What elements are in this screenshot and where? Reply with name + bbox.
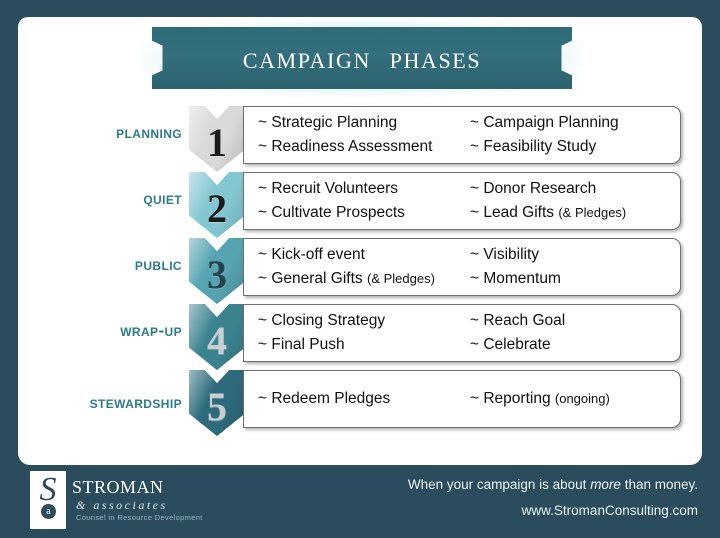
phase-item-line: ~ Strategic Planning~ Campaign Planning (258, 111, 680, 135)
stroman-logo: S a Stroman & associates Counsel in Reso… (30, 471, 205, 531)
phase-item-right: ~ Campaign Planning (470, 111, 619, 135)
phase-label-stewardship: Stewardship (0, 394, 182, 411)
title-banner: Campaign Phases (152, 27, 572, 89)
phase-item-left: ~ Closing Strategy (258, 309, 470, 333)
phase-label-public: Public (0, 256, 182, 273)
phase-item-right: ~ Visibility (470, 243, 539, 267)
phase-item-right-text: ~ Celebrate (470, 336, 551, 353)
phase-content-box: ~ Closing Strategy~ Reach Goal~ Final Pu… (243, 304, 681, 362)
phase-number: 2 (207, 189, 227, 238)
phase-item-right-note: (ongoing) (555, 391, 610, 406)
logo-mark: S a (30, 471, 66, 529)
phase-number: 5 (207, 387, 227, 436)
footer-website[interactable]: www.StromanConsulting.com (522, 503, 698, 518)
page-title: Campaign Phases (243, 42, 481, 75)
tagline-emphasis: more (590, 477, 621, 492)
phase-item-line: ~ General Gifts (& Pledges)~ Momentum (258, 267, 680, 291)
phase-item-left-text: ~ Strategic Planning (258, 114, 397, 131)
phase-item-right: ~ Feasibility Study (470, 135, 596, 159)
phase-item-line: ~ Redeem Pledges~ Reporting (ongoing) (258, 387, 680, 411)
phase-item-right: ~ Lead Gifts (& Pledges) (470, 201, 626, 225)
phase-item-left: ~ Final Push (258, 333, 470, 357)
phase-label-planning: Planning (0, 124, 182, 141)
phase-item-left-text: ~ General Gifts (258, 270, 363, 287)
phase-item-left: ~ General Gifts (& Pledges) (258, 267, 470, 291)
logo-associates: & associates (76, 499, 168, 511)
phase-item-right-note: (& Pledges) (558, 205, 626, 220)
phase-item-line: ~ Recruit Volunteers~ Donor Research (258, 177, 680, 201)
slide-root: Campaign Phases Planning1~ Strategic Pla… (0, 0, 720, 538)
phase-content-box: ~ Kick-off event~ Visibility~ General Gi… (243, 238, 681, 296)
phase-item-right: ~ Reach Goal (470, 309, 565, 333)
phase-item-left-text: ~ Closing Strategy (258, 312, 385, 329)
phase-item-left: ~ Readiness Assessment (258, 135, 470, 159)
phase-item-line: ~ Readiness Assessment~ Feasibility Stud… (258, 135, 680, 159)
phase-item-left: ~ Recruit Volunteers (258, 177, 470, 201)
tagline-post: than money. (621, 477, 698, 492)
phase-label-wrap-up: Wrap-up (0, 322, 182, 339)
phase-item-right: ~ Reporting (ongoing) (470, 387, 610, 411)
logo-company-name: Stroman (72, 473, 164, 499)
phase-item-right-text: ~ Lead Gifts (470, 204, 554, 221)
phase-item-right-text: ~ Reporting (470, 390, 551, 407)
phase-item-right-text: ~ Donor Research (470, 180, 596, 197)
phase-number: 1 (207, 123, 227, 172)
phase-item-left: ~ Kick-off event (258, 243, 470, 267)
phase-content-box: ~ Strategic Planning~ Campaign Planning~… (243, 106, 681, 164)
phase-item-line: ~ Final Push~ Celebrate (258, 333, 680, 357)
footer-bar: S a Stroman & associates Counsel in Reso… (0, 465, 720, 538)
phase-item-right-text: ~ Campaign Planning (470, 114, 619, 131)
phase-number: 3 (207, 255, 227, 304)
phase-item-left-text: ~ Final Push (258, 336, 345, 353)
tagline-pre: When your campaign is about (408, 477, 590, 492)
banner-plate: Campaign Phases (152, 27, 572, 89)
phase-number: 4 (207, 321, 227, 370)
phase-item-line: ~ Kick-off event~ Visibility (258, 243, 680, 267)
phase-item-left-text: ~ Cultivate Prospects (258, 204, 405, 221)
phase-item-left-text: ~ Recruit Volunteers (258, 180, 398, 197)
phase-item-left: ~ Strategic Planning (258, 111, 470, 135)
phase-item-left: ~ Redeem Pledges (258, 387, 470, 411)
phase-item-right: ~ Donor Research (470, 177, 596, 201)
phase-item-left-text: ~ Kick-off event (258, 246, 365, 263)
phase-item-right-text: ~ Feasibility Study (470, 138, 596, 155)
phase-item-line: ~ Closing Strategy~ Reach Goal (258, 309, 680, 333)
phase-item-right-text: ~ Momentum (470, 270, 561, 287)
phase-item-left-text: ~ Redeem Pledges (258, 390, 390, 407)
phase-content-box: ~ Redeem Pledges~ Reporting (ongoing) (243, 370, 681, 428)
phase-item-right: ~ Momentum (470, 267, 561, 291)
phase-item-left-note: (& Pledges) (367, 271, 435, 286)
phase-item-right-text: ~ Visibility (470, 246, 539, 263)
phase-item-left-text: ~ Readiness Assessment (258, 138, 432, 155)
logo-tagline: Counsel in Resource Development (76, 514, 203, 522)
phase-item-right: ~ Celebrate (470, 333, 551, 357)
phase-item-right-text: ~ Reach Goal (470, 312, 565, 329)
logo-a-badge: a (41, 504, 56, 519)
phase-content-box: ~ Recruit Volunteers~ Donor Research~ Cu… (243, 172, 681, 230)
phase-item-line: ~ Cultivate Prospects~ Lead Gifts (& Ple… (258, 201, 680, 225)
phase-item-left: ~ Cultivate Prospects (258, 201, 470, 225)
phase-label-quiet: Quiet (0, 190, 182, 207)
footer-tagline: When your campaign is about more than mo… (408, 477, 698, 492)
